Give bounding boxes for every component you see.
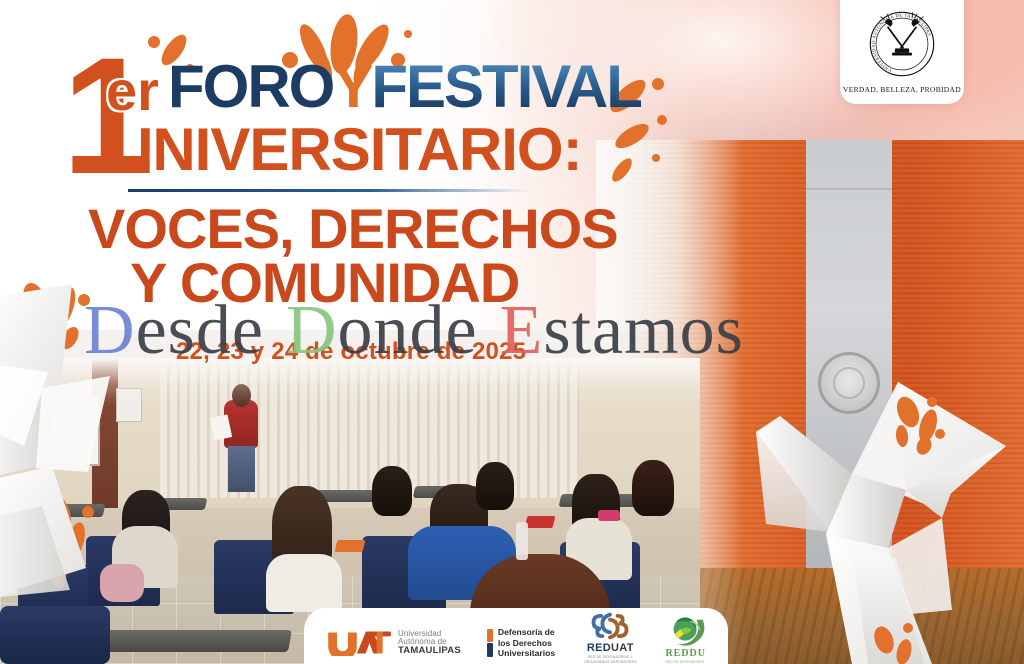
sponsor-logo-bar: Universidad Autónoma de TAMAULIPAS Defen… <box>304 608 728 664</box>
title-universitario: UNIVERSITARIO: <box>110 120 582 180</box>
uat-line-3: TAMAULIPAS <box>398 646 461 656</box>
ordinal-suffix: er <box>106 58 159 123</box>
uat-logo-icon <box>326 630 392 656</box>
uat-seal-icon: UNIVERSIDAD AUTONOMA DE TAMAULIPAS <box>866 8 938 80</box>
watermark-desde-donde-estamos: DesdeDondeEstamos <box>84 296 744 366</box>
photo-foreground-chair <box>0 606 110 664</box>
defensoria-line-3: Universitarios <box>498 648 555 659</box>
red-uat-word-red: RED <box>587 642 611 654</box>
reddu-wordmark: REDDU <box>665 648 706 659</box>
background-column-seam <box>806 188 892 190</box>
photo-desk-folder <box>335 540 366 552</box>
watermark-rest-1: esde <box>136 292 264 369</box>
poster-canvas: 1 er FOROYFESTIVAL UNIVERSITARIO: VOCES,… <box>0 0 1024 664</box>
photo-presenter-legs <box>228 446 255 492</box>
photo-student-shirt <box>266 554 342 612</box>
photo-desk-folder <box>525 516 556 528</box>
defensoria-line-2: los Derechos <box>498 638 555 649</box>
subtitle-line-1: VOCES, DERECHOS <box>88 200 618 257</box>
logo-defensoria: Defensoría de los Derechos Universitario… <box>487 627 555 659</box>
photo-student <box>372 466 412 516</box>
photo-desk-cup <box>516 522 528 560</box>
logo-red-uat: REDUAT RED DE DEFENSORÍAS Y ORGANISMOS D… <box>581 612 639 664</box>
defensoria-bar-orange <box>487 629 493 643</box>
logo-uat: Universidad Autónoma de TAMAULIPAS <box>326 630 461 657</box>
watermark-initial-e: E <box>500 292 544 369</box>
watermark-rest-2: onde <box>338 292 478 369</box>
red-uat-tagline: RED DE DEFENSORÍAS Y ORGANISMOS DEFENSOR… <box>581 655 639 664</box>
defensoria-bar-navy <box>487 643 493 657</box>
logo-reddu: REDDU RED DE DEFENSORES DERECHOS UNIVERS… <box>665 615 706 664</box>
photo-student <box>632 460 674 516</box>
photo-foreground-desk <box>88 630 292 652</box>
watermark-initial-d1: D <box>84 292 136 369</box>
reddu-tagline: RED DE DEFENSORES DERECHOS UNIVERSITARIO… <box>665 660 706 664</box>
reddu-globe-icon <box>666 615 706 647</box>
title-divider-rule <box>128 189 530 192</box>
title-foro-y-festival: FOROYFESTIVAL <box>168 57 641 117</box>
title-word-foro: FORO <box>168 53 333 120</box>
photo-student <box>476 462 514 510</box>
title-word-y: Y <box>333 53 371 120</box>
red-uat-wordmark: REDUAT <box>587 642 634 654</box>
uat-logo-wordmark: Universidad Autónoma de TAMAULIPAS <box>398 630 461 657</box>
photo-desk-case <box>598 510 620 521</box>
defensoria-line-1: Defensoría de <box>498 627 555 638</box>
watermark-initial-d2: D <box>286 292 338 369</box>
watermark-rest-3: stamos <box>543 292 743 369</box>
uat-seal-card: UNIVERSIDAD AUTONOMA DE TAMAULIPAS VERDA… <box>840 0 964 104</box>
defensoria-wordmark: Defensoría de los Derechos Universitario… <box>498 627 555 659</box>
title-word-festival: FESTIVAL <box>371 53 641 120</box>
uat-seal-motto: VERDAD, BELLEZA, PROBIDAD <box>843 85 961 94</box>
red-uat-links-icon <box>591 612 629 640</box>
defensoria-bars-icon <box>487 629 493 657</box>
origami-paper-dove <box>756 372 1006 664</box>
red-uat-word-uat: UAT <box>611 642 634 654</box>
